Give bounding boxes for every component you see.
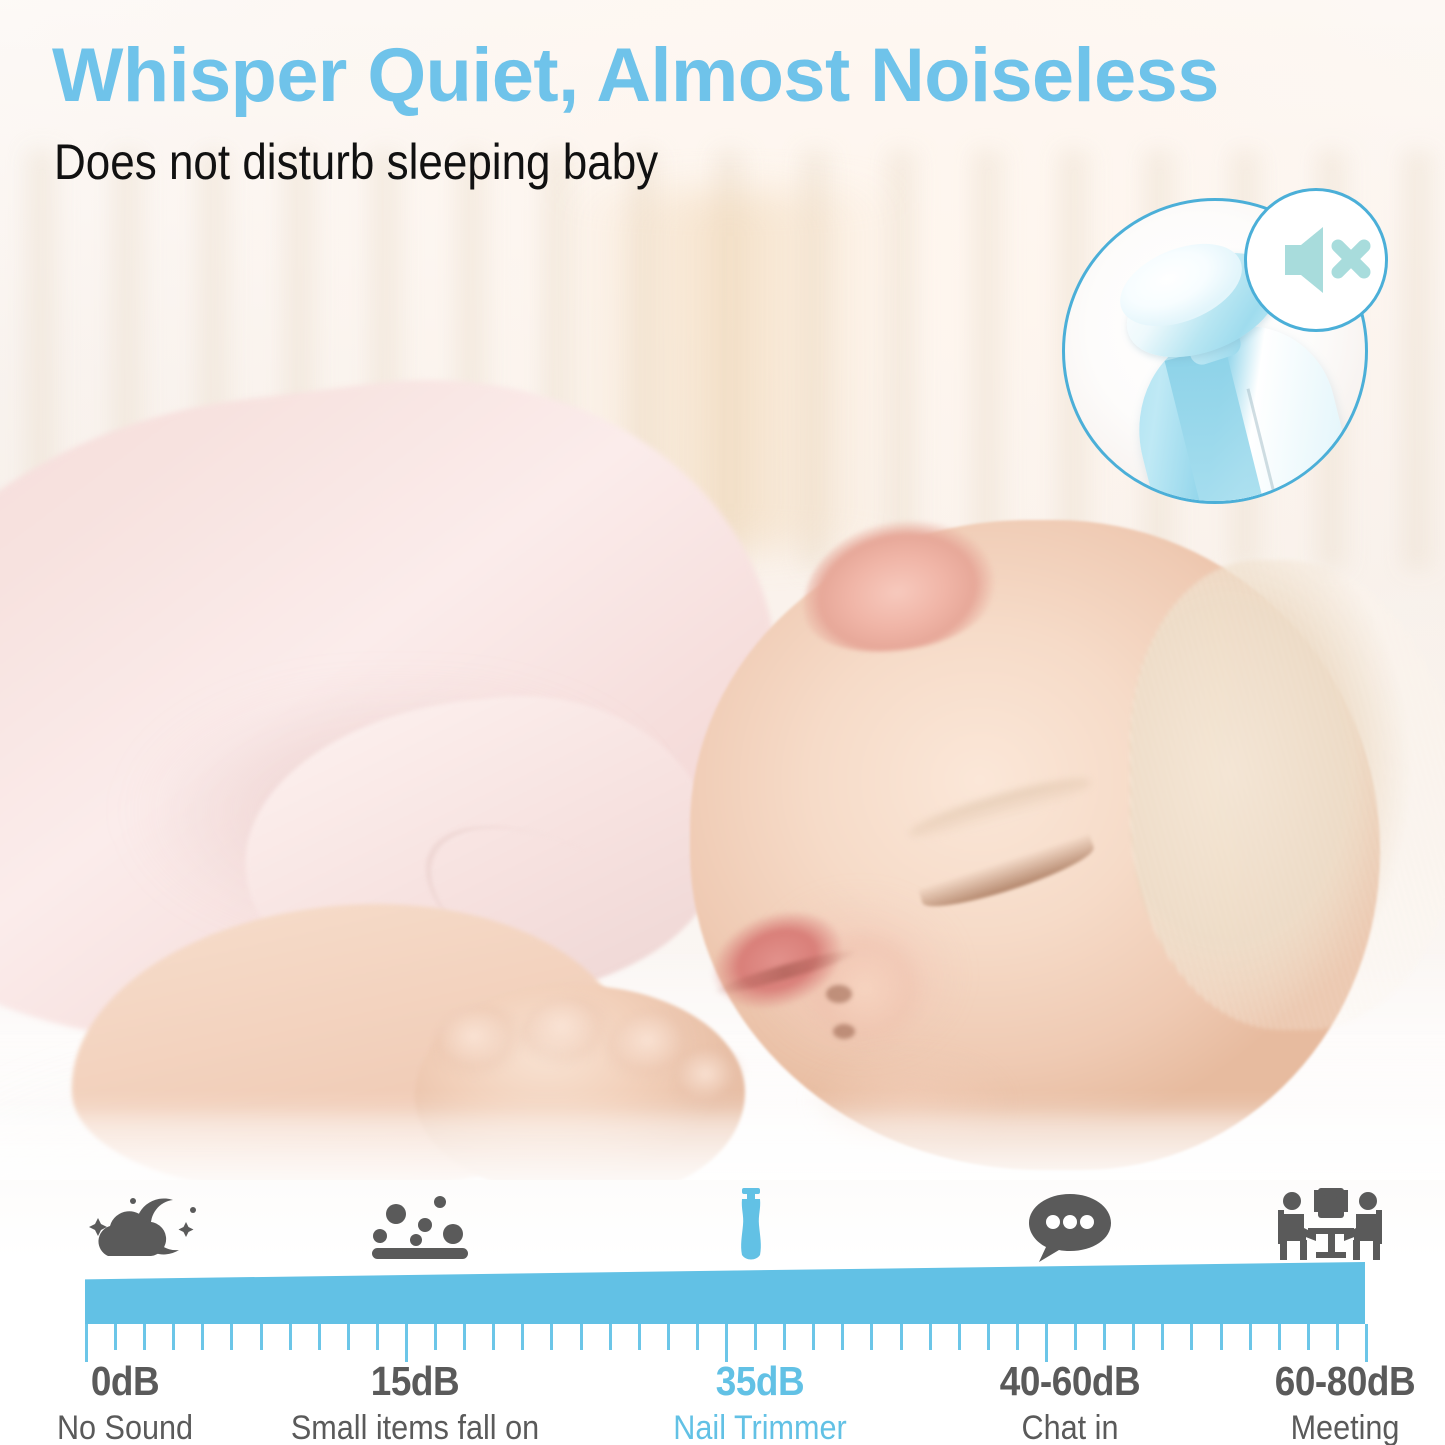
scale-tick xyxy=(1278,1324,1281,1350)
scale-tick xyxy=(172,1324,175,1350)
scale-tick xyxy=(1190,1324,1193,1350)
scale-tick xyxy=(958,1324,961,1350)
scale-tick xyxy=(929,1324,932,1350)
scale-tick xyxy=(1336,1324,1339,1350)
scale-tick xyxy=(1103,1324,1106,1350)
scale-tick xyxy=(550,1324,553,1350)
scale-tick xyxy=(201,1324,204,1350)
mute-speaker-icon xyxy=(1247,191,1385,329)
meeting-discussion-icon xyxy=(1278,1188,1382,1264)
nostril xyxy=(833,1024,855,1039)
scale-db-value: 15dB xyxy=(244,1358,586,1404)
scale-label-35db: 35dB Nail Trimmer Operting Sound xyxy=(590,1358,930,1445)
scale-tick xyxy=(492,1324,495,1350)
scale-db-value: 40-60dB xyxy=(917,1358,1223,1404)
scale-tick xyxy=(580,1324,583,1350)
scale-tick xyxy=(85,1324,88,1362)
scale-tick xyxy=(143,1324,146,1350)
page-title: Whisper Quiet, Almost Noiseless xyxy=(52,36,1405,116)
moon-cloud-icon xyxy=(85,1194,205,1262)
chat-bubble-icon xyxy=(1026,1192,1114,1264)
scale-tick xyxy=(1249,1324,1252,1350)
scale-tick xyxy=(230,1324,233,1350)
scale-tick xyxy=(1132,1324,1135,1350)
mute-badge xyxy=(1244,188,1388,332)
product-inset xyxy=(1062,188,1392,506)
scale-label-15db: 15dB Small items fall on the ground xyxy=(225,1358,605,1445)
scale-tick xyxy=(114,1324,117,1350)
scale-tick xyxy=(1365,1324,1368,1362)
scale-tick xyxy=(1074,1324,1077,1350)
scale-db-desc-line1: Small items fall on xyxy=(244,1408,586,1445)
scale-tick xyxy=(609,1324,612,1350)
scale-tick xyxy=(1307,1324,1310,1350)
scale-tick xyxy=(870,1324,873,1350)
scale-tick xyxy=(1220,1324,1223,1350)
scale-tick xyxy=(347,1324,350,1350)
scale-tick xyxy=(376,1324,379,1350)
scale-tick xyxy=(260,1324,263,1350)
scale-db-value: 35dB xyxy=(607,1358,913,1404)
scale-tick xyxy=(638,1324,641,1350)
scale-tick xyxy=(987,1324,990,1350)
scale-tick xyxy=(1161,1324,1164,1350)
scale-db-desc-line1: Chat in xyxy=(917,1408,1223,1445)
scale-tick xyxy=(754,1324,757,1350)
scale-tick xyxy=(725,1324,728,1362)
scale-db-desc-line1: Nail Trimmer xyxy=(607,1408,913,1445)
scale-tick xyxy=(696,1324,699,1350)
scale-tick xyxy=(463,1324,466,1350)
scale-db-value: 60-80dB xyxy=(1201,1358,1445,1404)
baby-hair xyxy=(1130,560,1445,1030)
scale-db-desc-line1: Meeting xyxy=(1201,1408,1445,1445)
scale-bar xyxy=(85,1262,1365,1324)
product-infographic: Whisper Quiet, Almost Noiseless Does not… xyxy=(0,0,1445,1445)
scale-tick xyxy=(1016,1324,1019,1350)
scale-tick xyxy=(812,1324,815,1350)
scale-tick xyxy=(841,1324,844,1350)
decibel-scale: 0dB No Sound 15dB Small items fall on th… xyxy=(0,1180,1445,1445)
scale-tick xyxy=(667,1324,670,1350)
scale-tick xyxy=(783,1324,786,1350)
falling-items-icon xyxy=(368,1194,472,1262)
scale-label-60-80db: 60-80dB Meeting Discussion xyxy=(1185,1358,1445,1445)
nail-trimmer-icon xyxy=(733,1188,769,1262)
scale-tick xyxy=(289,1324,292,1350)
scale-tick xyxy=(405,1324,408,1362)
scale-tick xyxy=(900,1324,903,1350)
scale-tick xyxy=(521,1324,524,1350)
knuckle xyxy=(432,1006,536,1092)
scale-tick xyxy=(1045,1324,1048,1362)
scale-tick xyxy=(434,1324,437,1350)
scale-tick xyxy=(318,1324,321,1350)
page-subtitle: Does not disturb sleeping baby xyxy=(54,134,658,190)
